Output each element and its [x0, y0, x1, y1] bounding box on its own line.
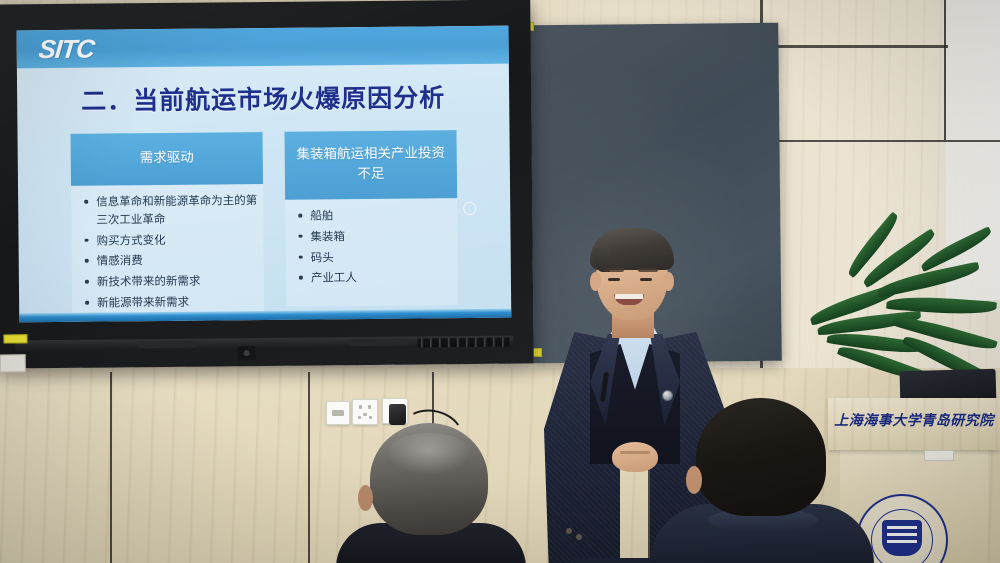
slide-content-columns: 需求驱动 信息革命和新能源革命为主的第三次工业革命 购买方式变化 情感消费 新技…	[18, 130, 512, 310]
eye-right	[640, 278, 652, 281]
list-item: 码头	[308, 248, 454, 267]
ir-sensor-icon	[238, 346, 256, 360]
list-item: 船舶	[307, 206, 453, 225]
list-item: 新技术带来的新需求	[94, 272, 260, 291]
bezel-sticker	[3, 334, 27, 343]
wall-mounted-interactive-display[interactable]: SITC 二．当前航运市场火爆原因分析 需求驱动 信息革命和新能源革命为主的第三…	[0, 0, 534, 369]
wall-seam	[944, 0, 946, 140]
list-item: 情感消费	[94, 251, 260, 270]
audience-head	[696, 398, 826, 516]
screen-glare-dot	[463, 202, 476, 215]
jacket-button	[566, 528, 572, 534]
ear	[686, 466, 702, 494]
list-item: 信息革命和新能源革命为主的第三次工业革命	[93, 192, 259, 229]
presentation-slide: SITC 二．当前航运市场火爆原因分析 需求驱动 信息革命和新能源革命为主的第三…	[17, 26, 512, 323]
list-item: 产业工人	[308, 269, 454, 288]
wall-seam	[760, 45, 948, 48]
power-socket-plate[interactable]	[352, 399, 378, 425]
speaker-grille	[138, 341, 198, 349]
ear-left	[590, 272, 601, 291]
column-body: 信息革命和新能源革命为主的第三次工业革命 购买方式变化 情感消费 新技术带来的新…	[71, 184, 264, 322]
speaker-grille	[349, 339, 409, 347]
hair	[590, 228, 674, 270]
presentation-room-photo: SITC 二．当前航运市场火爆原因分析 需求驱动 信息革命和新能源革命为主的第三…	[0, 0, 1000, 563]
ear-right	[663, 272, 674, 291]
wall-seam	[110, 372, 112, 563]
ear	[358, 485, 373, 511]
column-underinvestment: 集装箱航运相关产业投资不足 船舶 集装箱 码头 产业工人	[284, 130, 458, 307]
sitc-logo: SITC	[37, 33, 95, 65]
eyebrow-right	[638, 268, 658, 272]
eyebrow-left	[604, 268, 624, 272]
slide-title: 二．当前航运市场火爆原因分析	[17, 78, 509, 119]
asset-tag	[0, 354, 26, 372]
emblem-ship-icon	[882, 520, 922, 556]
jacket-button	[576, 534, 582, 540]
wall-seam	[770, 140, 1000, 142]
column-body: 船舶 集装箱 码头 产业工人	[285, 198, 458, 307]
eye-left	[608, 278, 620, 281]
audience-member-front-right	[650, 398, 880, 563]
audience-member-front-left	[330, 423, 530, 563]
column-demand-drivers: 需求驱动 信息革命和新能源革命为主的第三次工业革命 购买方式变化 情感消费 新技…	[71, 132, 265, 309]
list-item: 购买方式变化	[93, 231, 259, 250]
column-heading: 集装箱航运相关产业投资不足	[284, 130, 457, 200]
list-item: 新能源带来新需求	[94, 293, 260, 312]
lectern-label-tag	[924, 450, 954, 461]
list-item: 集装箱	[307, 227, 453, 246]
data-jack-plate[interactable]	[326, 401, 350, 425]
wall-seam	[308, 372, 310, 563]
slide-header-band: SITC	[17, 26, 509, 69]
column-heading: 需求驱动	[71, 132, 263, 186]
display-port-strip[interactable]	[417, 338, 509, 348]
audience-head	[370, 423, 488, 535]
